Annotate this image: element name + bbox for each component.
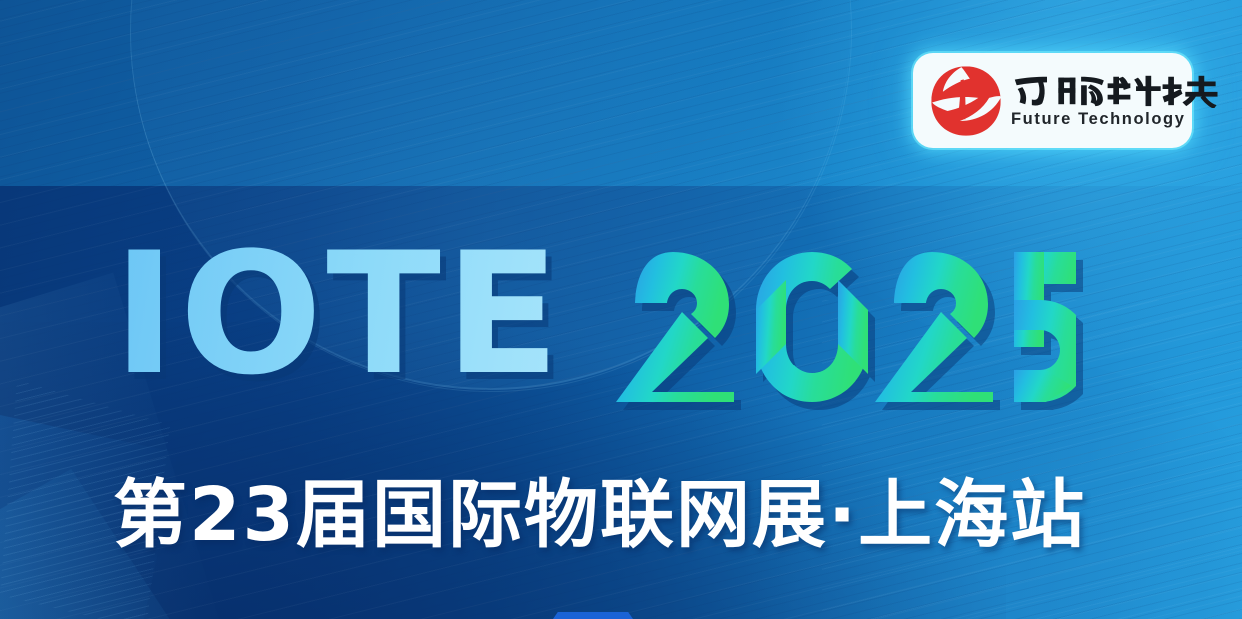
headline-year-2025 [616,252,1076,402]
bottom-center-tab [553,612,633,619]
banner-subtitle: 第23届国际物联网展·上海站 [113,455,1086,562]
brand-name-cn-wordmark [1011,72,1219,108]
iote-2025-banner: Future Technology IOTE [0,0,1242,619]
brand-logo-badge[interactable]: Future Technology [913,53,1192,148]
feichang-emblem-icon [927,64,1005,138]
headline-iote: IOTE [113,243,564,386]
brand-text-block: Future Technology [1011,72,1219,129]
brand-name-en: Future Technology [1011,110,1219,129]
headline-block: IOTE [113,243,1076,402]
